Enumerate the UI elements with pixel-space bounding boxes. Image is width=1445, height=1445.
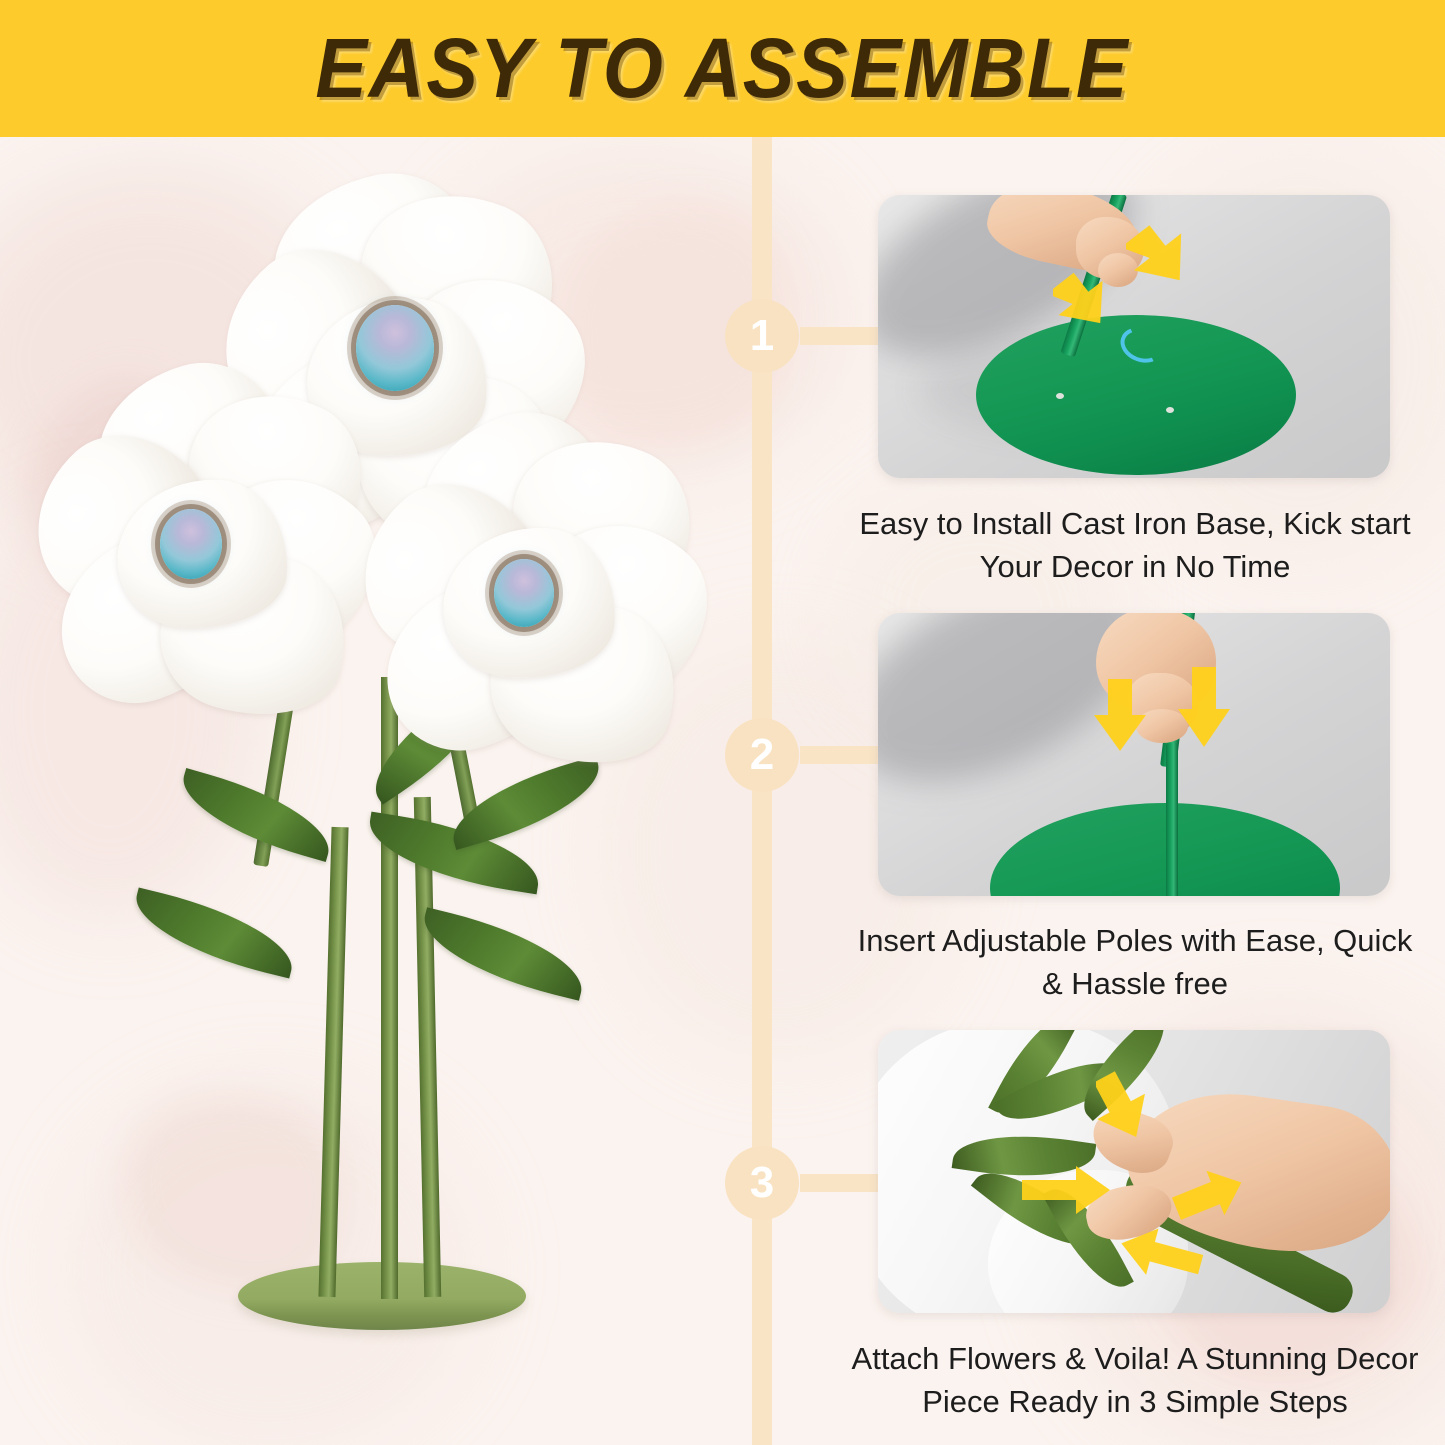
step-number-1: 1	[750, 311, 774, 361]
arrow-icon-1b	[1126, 217, 1206, 297]
arrow-icon-3b	[1018, 1162, 1114, 1218]
product-flower-left	[30, 367, 370, 707]
infographic-page: EASY TO ASSEMBLE	[0, 0, 1445, 1445]
arrow-icon-3d	[1116, 1226, 1206, 1290]
step-image-1[interactable]	[878, 195, 1390, 478]
product-leaf-2	[126, 887, 302, 978]
product-pole-left	[318, 827, 348, 1297]
arrow-icon-2b	[1176, 663, 1232, 751]
product-flower-right	[358, 417, 704, 757]
step-image-2[interactable]	[878, 613, 1390, 896]
timeline-connector-1	[800, 327, 890, 345]
arrow-icon-3a	[1096, 1068, 1166, 1144]
product-photo	[0, 137, 720, 1445]
step-caption-2: Insert Adjustable Poles with Ease, Quick…	[845, 920, 1425, 1006]
step-2-photo	[878, 613, 1390, 896]
timeline-connector-3	[800, 1174, 890, 1192]
step-image-3[interactable]	[878, 1030, 1390, 1313]
step-1-photo	[878, 195, 1390, 478]
product-flower-core-left	[160, 509, 222, 579]
step-3-photo	[878, 1030, 1390, 1313]
step-number-2: 2	[750, 730, 774, 780]
step-caption-1: Easy to Install Cast Iron Base, Kick sta…	[845, 503, 1425, 589]
product-leaf-6	[414, 907, 592, 1001]
header-banner: EASY TO ASSEMBLE	[0, 0, 1445, 137]
page-title: EASY TO ASSEMBLE	[316, 20, 1130, 117]
step-marker-1[interactable]: 1	[725, 299, 799, 373]
product-flower-core-right	[494, 559, 554, 627]
arrow-icon-1a	[1053, 267, 1123, 339]
step-caption-3: Attach Flowers & Voila! A Stunning Decor…	[845, 1338, 1425, 1424]
step-number-3: 3	[750, 1158, 774, 1208]
arrow-icon-2a	[1092, 675, 1148, 755]
step-marker-3[interactable]: 3	[725, 1146, 799, 1220]
timeline-connector-2	[800, 746, 890, 764]
step-marker-2[interactable]: 2	[725, 718, 799, 792]
